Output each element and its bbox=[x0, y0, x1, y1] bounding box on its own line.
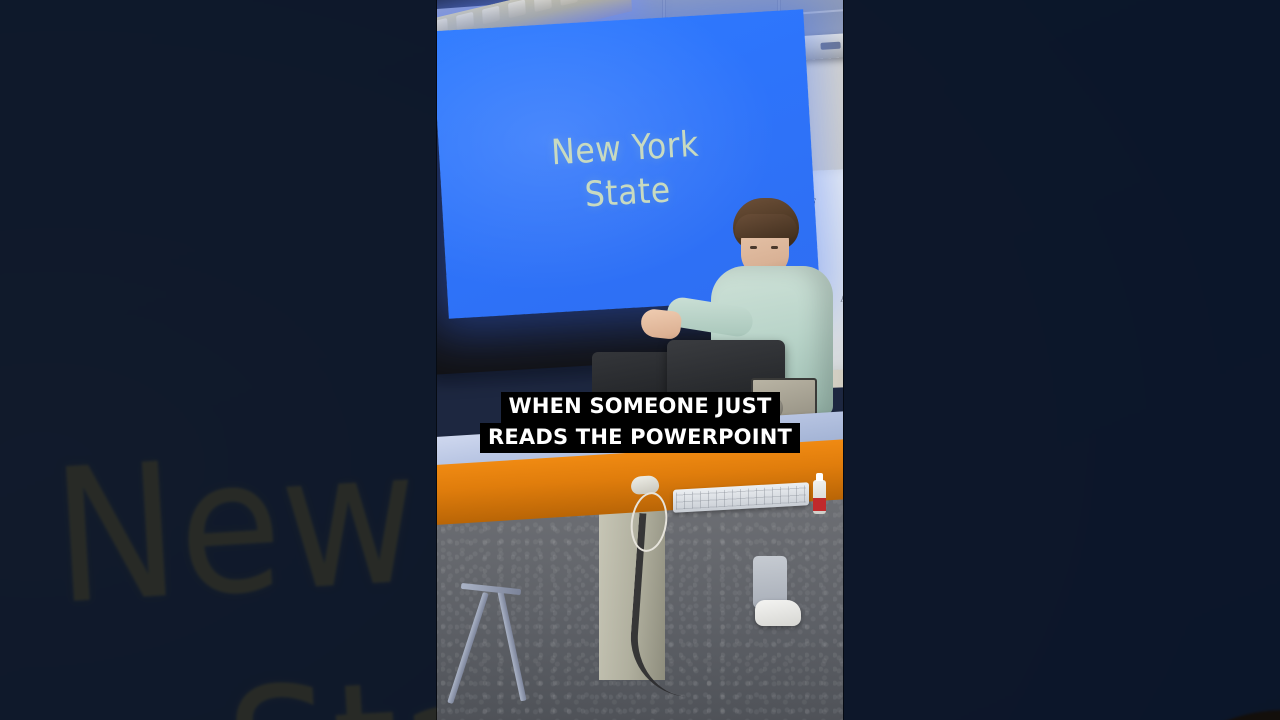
caption-overlay: WHEN SOMEONE JUST READS THE POWERPOINT bbox=[437, 392, 843, 453]
person-eye-right bbox=[771, 246, 778, 249]
caption-line-2: READS THE POWERPOINT bbox=[480, 423, 800, 454]
center-video-frame: fwud HALF USW FU TS AM New York State bbox=[437, 0, 843, 720]
keyboard-keys bbox=[676, 485, 806, 509]
person-shoe bbox=[755, 600, 801, 626]
person-eye-left bbox=[750, 246, 757, 249]
sanitizer-label bbox=[813, 498, 826, 511]
light-lens bbox=[560, 0, 578, 6]
tripod-leg bbox=[497, 591, 526, 702]
sanitizer-cap bbox=[816, 473, 823, 481]
person-fringe bbox=[735, 214, 797, 238]
light-lens bbox=[508, 0, 526, 18]
light-lens bbox=[456, 12, 474, 31]
light-lens bbox=[534, 0, 552, 12]
hand-sanitizer-icon bbox=[813, 480, 826, 514]
caption-line-1: WHEN SOMEONE JUST bbox=[501, 392, 780, 423]
light-lens bbox=[482, 6, 500, 25]
tripod-icon bbox=[465, 590, 561, 710]
classroom-scene: fwud HALF USW FU TS AM New York State bbox=[437, 0, 843, 720]
video-stage: fwud HALF USW FU TS AM New York State bbox=[0, 0, 1280, 720]
roller-end-cap bbox=[820, 42, 840, 50]
whiteboard-note-6: AM bbox=[840, 293, 843, 305]
